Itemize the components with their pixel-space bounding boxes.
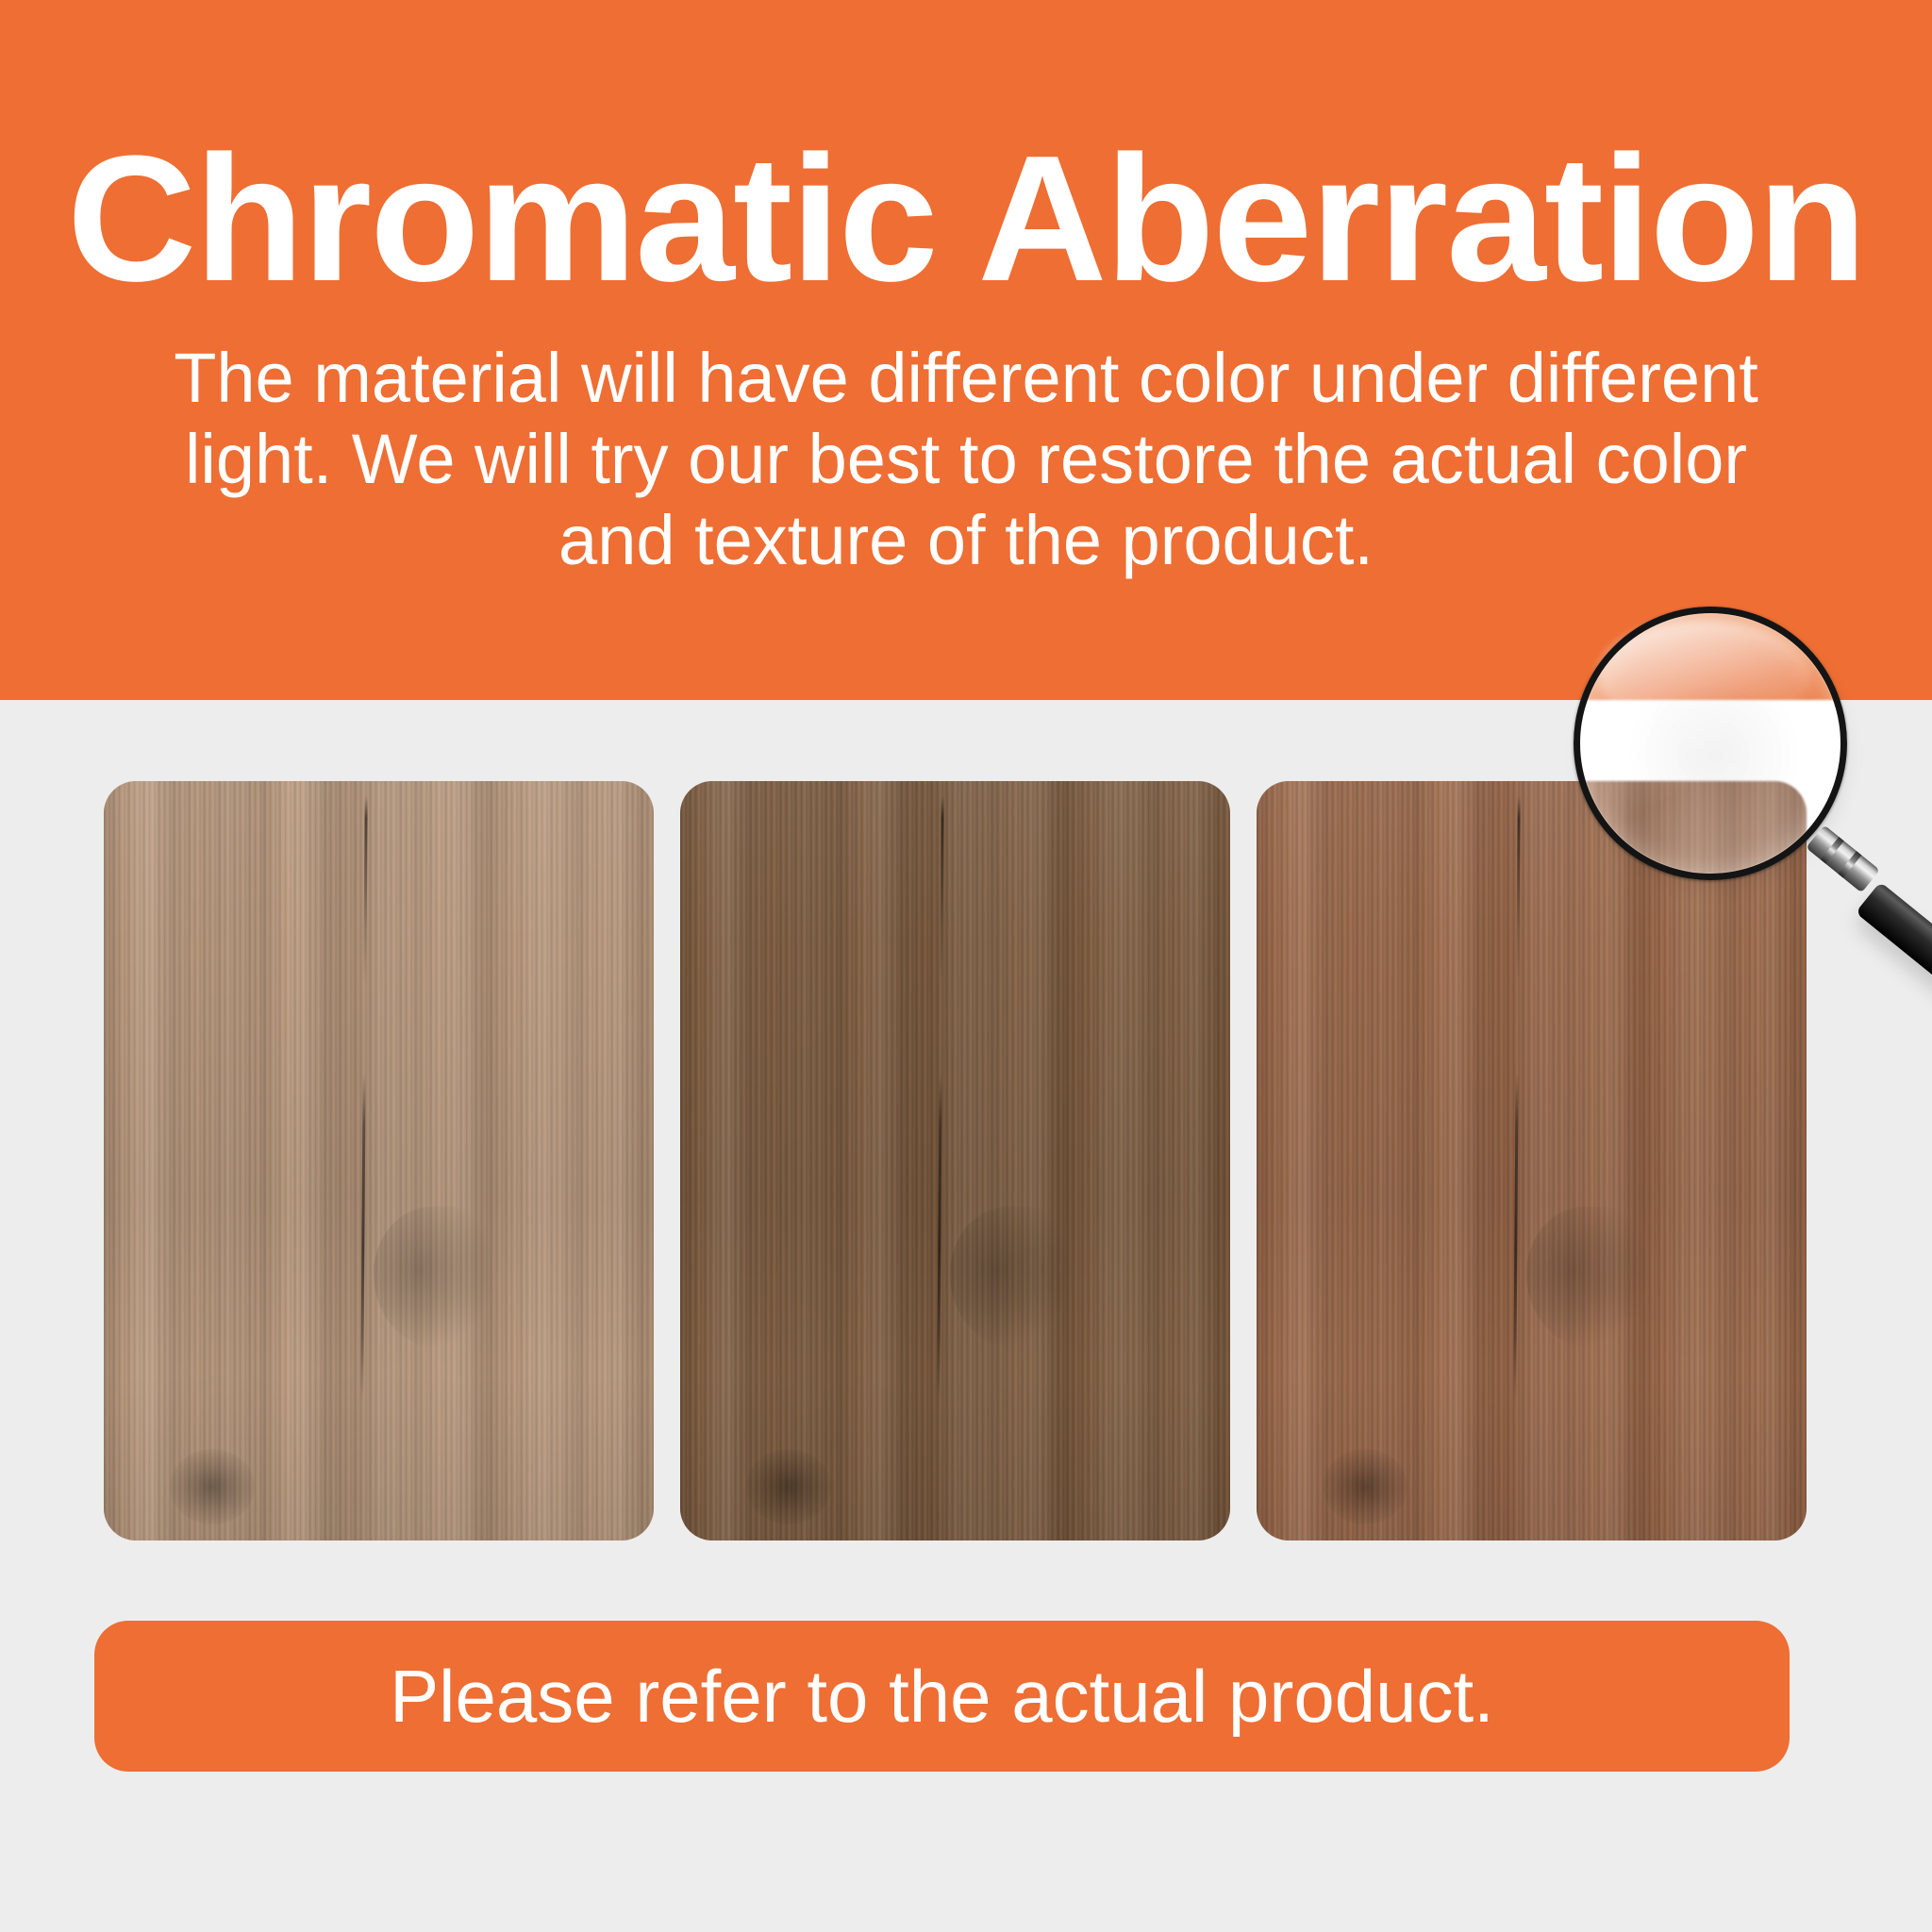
light-oak-swatch[interactable] [104, 781, 654, 1541]
page-title: Chromatic Aberration [0, 125, 1932, 313]
wood-grain-fine [104, 781, 654, 1541]
header-subtitle: The material will have different color u… [132, 338, 1800, 581]
header-band: Chromatic Aberration The material will h… [0, 0, 1932, 700]
promo-graphic-root: Chromatic Aberration The material will h… [0, 0, 1932, 1932]
medium-brown-swatch[interactable] [680, 781, 1230, 1541]
warm-walnut-swatch[interactable] [1257, 781, 1807, 1541]
wood-grain-fine [680, 781, 1230, 1541]
footer-banner[interactable]: Please refer to the actual product. [94, 1621, 1790, 1772]
swatch-row [0, 781, 1932, 1541]
wood-grain-fine [1257, 781, 1807, 1541]
wood-knot-secondary [170, 1449, 255, 1524]
wood-knot-secondary [1323, 1449, 1407, 1524]
footer-banner-label: Please refer to the actual product. [390, 1656, 1494, 1737]
wood-knot-secondary [746, 1449, 831, 1524]
